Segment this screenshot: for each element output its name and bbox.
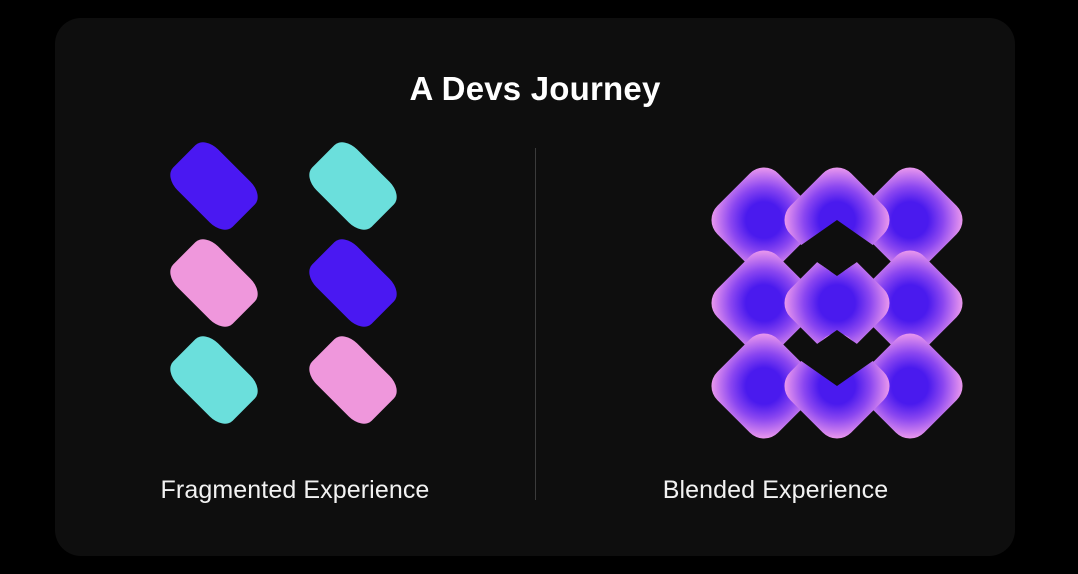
content-card: A Devs Journey Fragmented Experience (55, 18, 1015, 556)
blended-mark-svg (691, 163, 983, 443)
blended-diamond-lattice-icon (691, 163, 983, 443)
blended-panel: Blended Experience (536, 18, 1015, 556)
tile-teal-r0c1 (303, 136, 403, 236)
tile-purple-r1c1 (303, 233, 403, 333)
screen: A Devs Journey Fragmented Experience (0, 0, 1078, 574)
tile-purple-r0c0 (164, 136, 264, 236)
fragmented-panel: Fragmented Experience (55, 18, 535, 556)
fragmented-tile-grid (155, 146, 435, 422)
fragmented-caption: Fragmented Experience (55, 476, 535, 505)
blended-caption: Blended Experience (536, 476, 1015, 505)
tile-teal-r2c0 (164, 330, 264, 430)
tile-pink-r2c1 (303, 330, 403, 430)
tile-pink-r1c0 (164, 233, 264, 333)
